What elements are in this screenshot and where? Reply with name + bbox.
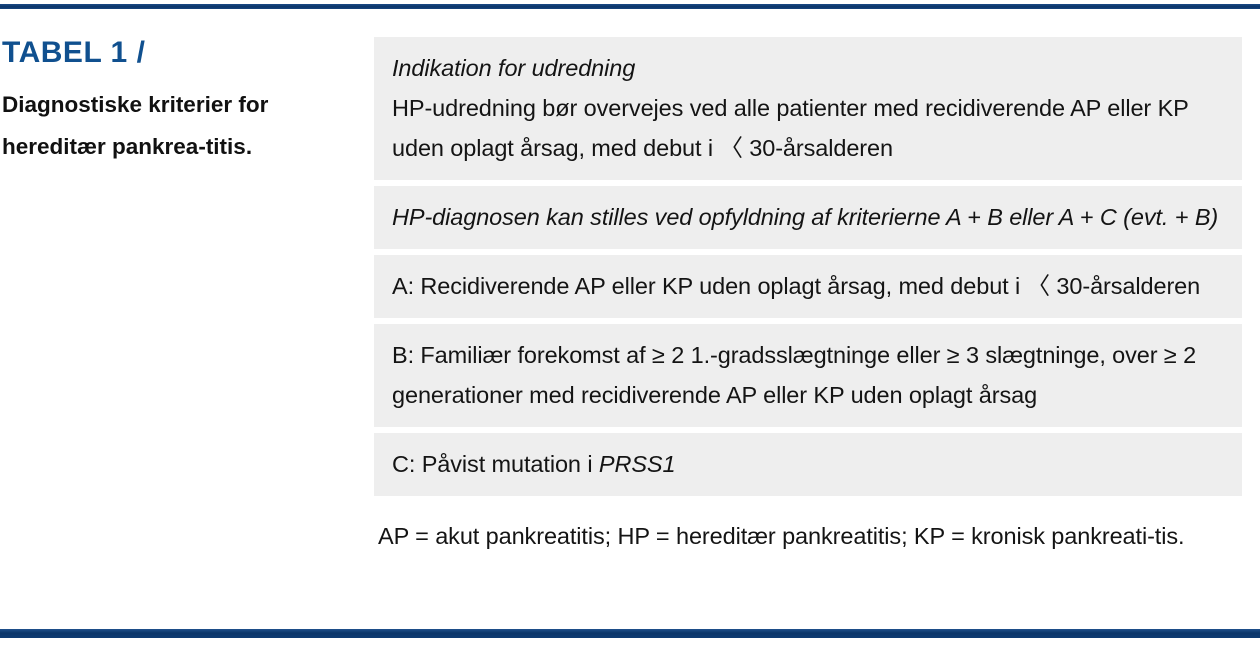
top-rule (0, 4, 1260, 9)
row-text-indikation: HP-udredning bør overvejes ved alle pati… (392, 88, 1224, 168)
table-row: A: Recidiverende AP eller KP uden oplagt… (374, 255, 1242, 324)
bottom-rule (0, 629, 1260, 638)
row-heading-hp-diagnosen: HP-diagnosen kan stilles ved opfyldning … (392, 197, 1224, 237)
kriterium-c-prefix: C: Påvist mutation i (392, 451, 599, 477)
row-heading-indikation: Indikation for udredning (392, 48, 1224, 88)
row-text-kriterium-c: C: Påvist mutation i PRSS1 (392, 444, 1224, 484)
row-text-kriterium-a: A: Recidiverende AP eller KP uden oplagt… (392, 266, 1224, 306)
table-row: Indikation for udredning HP-udredning bø… (374, 37, 1242, 186)
table-row: B: Familiær forekomst af ≥ 2 1.-gradsslæ… (374, 324, 1242, 433)
table-body: Indikation for udredning HP-udredning bø… (374, 37, 1242, 556)
gene-name-prss1: PRSS1 (599, 451, 676, 477)
table-number-label: TABEL 1 / (2, 36, 342, 70)
row-text-kriterium-b: B: Familiær forekomst af ≥ 2 1.-gradsslæ… (392, 335, 1224, 415)
table-row: HP-diagnosen kan stilles ved opfyldning … (374, 186, 1242, 255)
table-footnote: AP = akut pankreatitis; HP = hereditær p… (374, 516, 1240, 556)
table-row: C: Påvist mutation i PRSS1 (374, 433, 1242, 502)
table-caption: Diagnostiske kriterier for hereditær pan… (2, 84, 302, 168)
caption-column: TABEL 1 / Diagnostiske kriterier for her… (2, 36, 342, 168)
table-figure: TABEL 1 / Diagnostiske kriterier for her… (0, 0, 1260, 651)
